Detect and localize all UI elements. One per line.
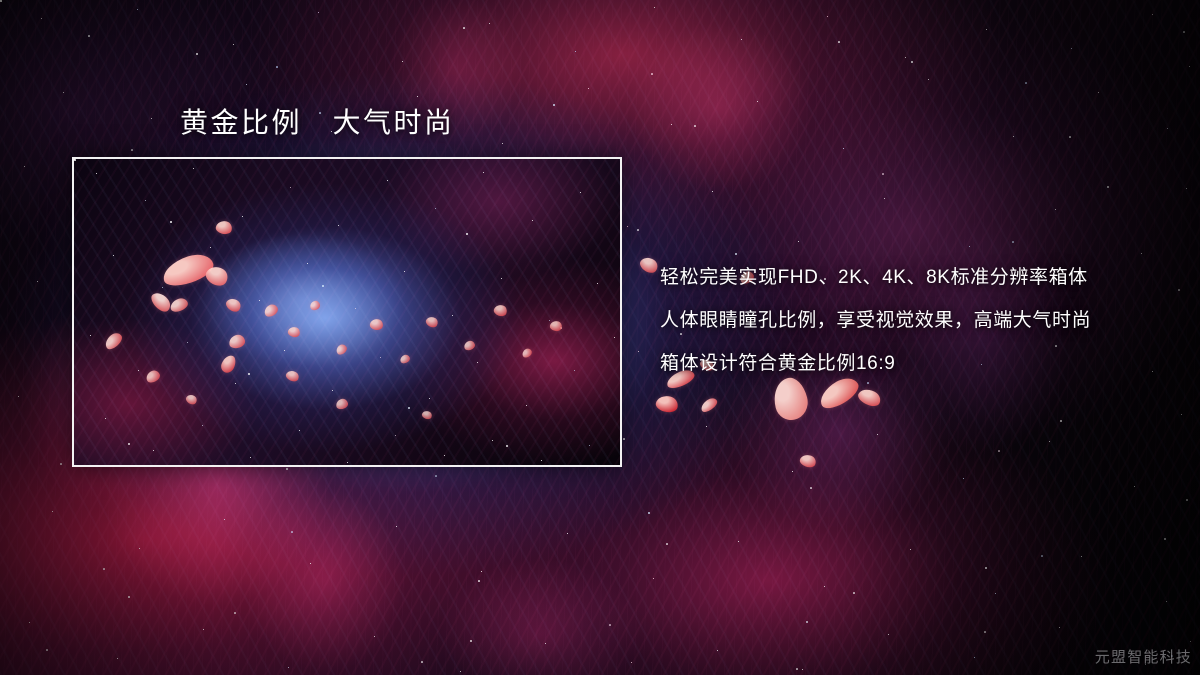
photo-petal	[463, 340, 476, 352]
photo-petal	[369, 318, 384, 331]
watermark-text: 元盟智能科技	[1095, 646, 1192, 667]
photo-petal	[168, 296, 189, 313]
photo-petal	[144, 369, 161, 385]
photo-petal	[521, 347, 534, 359]
photo-petal	[334, 343, 348, 357]
background-petal	[798, 453, 817, 470]
background-petal	[856, 386, 883, 410]
body-copy-block: 轻松完美实现FHD、2K、4K、8K标准分辨率箱体 人体眼睛瞳孔比例，享受视觉效…	[660, 256, 1160, 385]
photo-petal	[224, 296, 243, 315]
photo-content	[74, 159, 620, 465]
framed-photo-16x9	[72, 157, 622, 467]
photo-petal	[493, 303, 509, 318]
photo-petal	[215, 219, 234, 235]
photo-petal	[284, 369, 300, 384]
floating-petals-photo	[74, 159, 620, 465]
photo-petal	[262, 302, 280, 318]
photo-petal	[219, 353, 238, 375]
photo-petal	[424, 315, 439, 330]
background-petal	[638, 254, 661, 276]
photo-petal	[549, 320, 563, 333]
photo-petal	[184, 393, 198, 406]
photo-petal	[335, 398, 349, 411]
photo-petal	[287, 325, 302, 338]
photo-petal	[421, 409, 433, 420]
photo-petal	[228, 333, 246, 349]
body-copy-line-3: 箱体设计符合黄金比例16:9	[660, 342, 1160, 385]
slide-canvas: 黄金比例 大气时尚 轻松完美实现FHD、2K、4K、8K标准分辨率箱体 人体眼睛…	[0, 0, 1200, 675]
background-petal	[699, 396, 720, 414]
body-copy-line-1: 轻松完美实现FHD、2K、4K、8K标准分辨率箱体	[660, 256, 1160, 299]
photo-petal	[102, 330, 124, 351]
background-petal	[654, 394, 679, 415]
page-title: 黄金比例 大气时尚	[180, 101, 455, 141]
photo-petal	[309, 300, 321, 311]
photo-petal	[148, 289, 173, 315]
photo-petal	[399, 353, 411, 364]
body-copy-line-2: 人体眼睛瞳孔比例，享受视觉效果，高端大气时尚	[660, 299, 1160, 342]
